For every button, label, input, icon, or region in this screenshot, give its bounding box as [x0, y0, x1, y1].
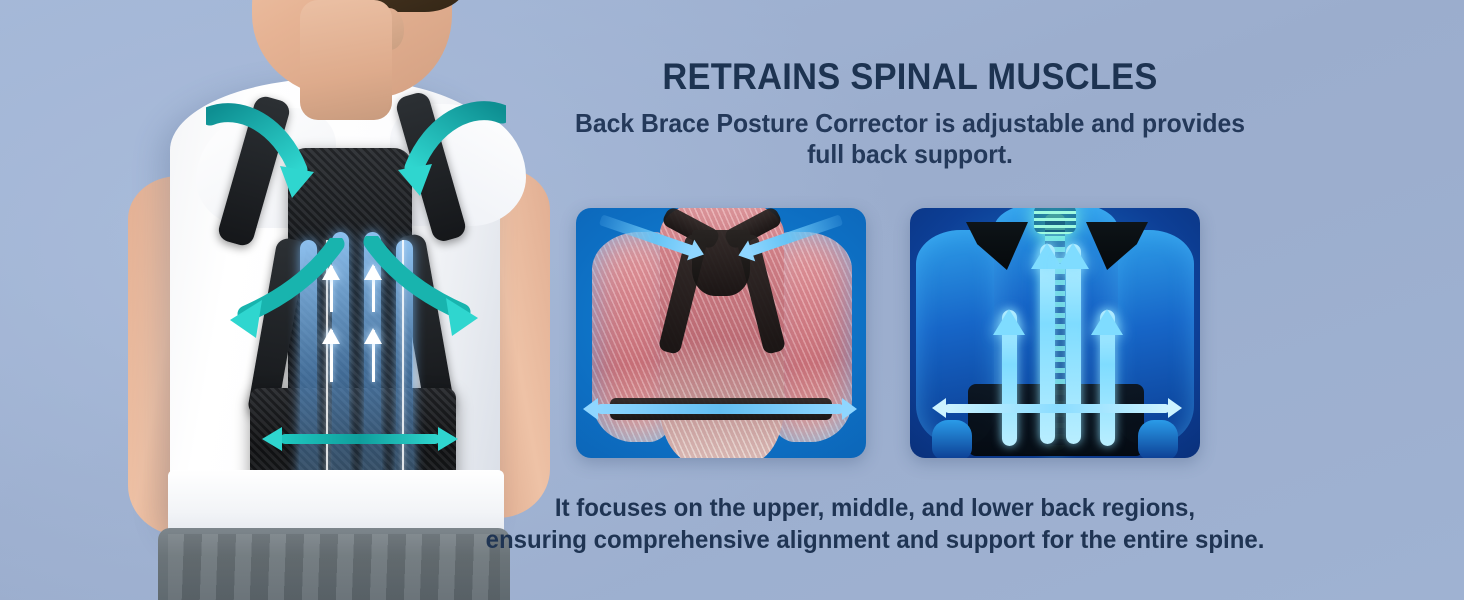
subtitle-line-1: Back Brace Posture Corrector is adjustab… [559, 108, 1262, 139]
xray-brace-lumbar-belt [968, 384, 1144, 456]
lift-arrow-inner-right-icon [1066, 244, 1081, 444]
lift-arrow-outer-right-icon [1100, 310, 1115, 446]
side-pull-arrow-right-icon [362, 236, 482, 356]
subtitle: Back Brace Posture Corrector is adjustab… [559, 108, 1262, 169]
lift-arrow-inner-left-icon [1040, 244, 1055, 444]
caption-line-1: It focuses on the upper, middle, and low… [457, 492, 1292, 524]
side-pull-arrow-left-icon [226, 238, 346, 358]
caption-line-2: ensuring comprehensive alignment and sup… [457, 524, 1292, 556]
anatomy-muscle-card [576, 208, 866, 458]
xray-hand-left [932, 420, 972, 458]
subtitle-line-2: full back support. [559, 139, 1262, 170]
shoulder-pull-arrow-left-icon [206, 98, 326, 218]
xray-lumbar-arrow-icon [944, 404, 1170, 413]
shoulder-pull-arrow-right-icon [386, 96, 506, 216]
product-feature-banner: RETRAINS SPINAL MUSCLES Back Brace Postu… [0, 0, 1464, 600]
page-title: RETRAINS SPINAL MUSCLES [585, 58, 1236, 95]
xray-hand-right [1138, 420, 1178, 458]
feature-caption: It focuses on the upper, middle, and low… [457, 492, 1292, 556]
muscle-lumbar-arrow-icon [596, 404, 844, 414]
xray-cervical-vertebrae [1034, 208, 1076, 234]
waist-compression-arrow-icon [262, 424, 458, 454]
anatomy-xray-card [910, 208, 1200, 458]
lift-arrow-outer-left-icon [1002, 310, 1017, 446]
